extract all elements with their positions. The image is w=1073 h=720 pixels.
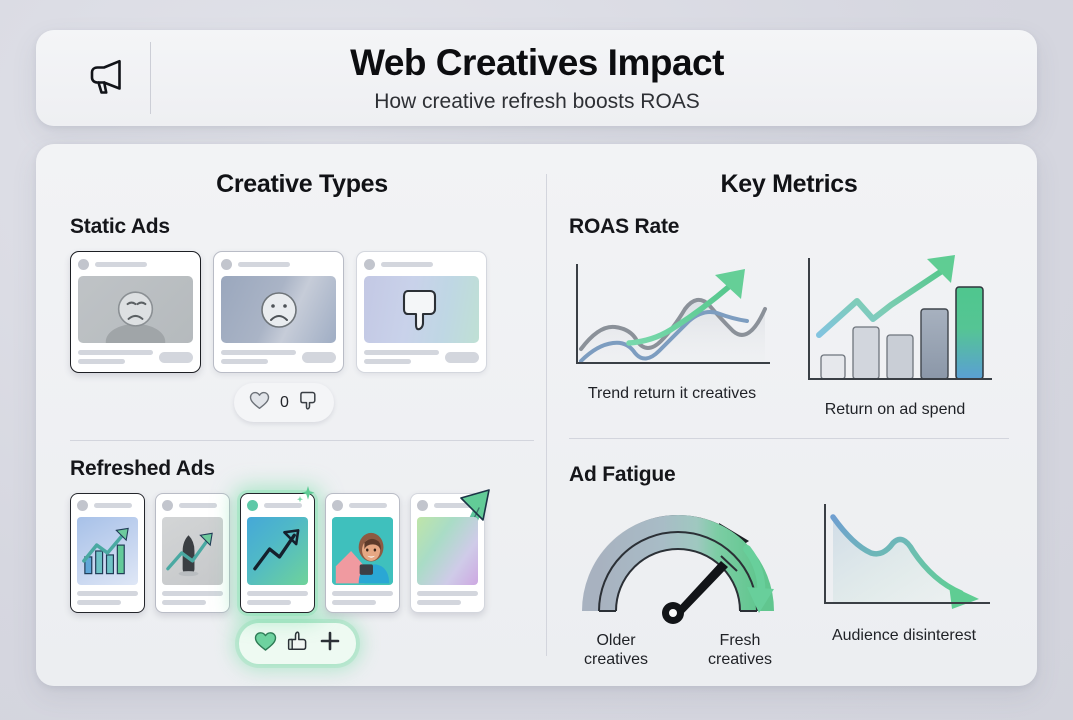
gauge-older-line2: creatives xyxy=(573,650,659,670)
ad-card-footer xyxy=(77,591,138,605)
refreshed-ads-title: Refreshed Ads xyxy=(70,457,534,481)
ad-card-footer xyxy=(162,591,223,605)
ad-line xyxy=(332,591,393,596)
ad-title-placeholder xyxy=(179,503,217,508)
ad-card-header xyxy=(78,259,193,270)
gauge-label-fresh: Fresh creatives xyxy=(697,631,783,670)
key-metrics-column: Key Metrics ROAS Rate xyxy=(547,160,1027,674)
avatar xyxy=(78,259,89,270)
ad-card-header xyxy=(417,500,478,511)
ad-line xyxy=(221,359,268,364)
avatar xyxy=(247,500,258,511)
gauge-fresh-line1: Fresh xyxy=(697,631,783,651)
ad-title-placeholder xyxy=(94,503,132,508)
ad-cta-placeholder[interactable] xyxy=(445,352,479,363)
trend-chart-caption: Trend return it creatives xyxy=(588,384,756,404)
fatigue-charts-row: Older creatives Fresh creatives xyxy=(569,499,1009,670)
header-panel: Web Creatives Impact How creative refres… xyxy=(36,30,1037,126)
ad-line xyxy=(162,591,223,596)
ad-line xyxy=(417,591,478,596)
ad-line xyxy=(332,600,376,605)
ad-card-header xyxy=(77,500,138,511)
ad-line xyxy=(78,350,153,355)
gauge-older-line1: Older xyxy=(573,631,659,651)
ad-line xyxy=(162,600,206,605)
ad-card-footer xyxy=(417,591,478,605)
creative-types-column: Creative Types Static Ads xyxy=(46,160,546,674)
ad-text-placeholders xyxy=(78,350,153,364)
trend-lines-chart: Trend return it creatives xyxy=(569,251,775,420)
static-ad-card[interactable] xyxy=(70,251,201,373)
ad-title-placeholder xyxy=(238,262,290,267)
megaphone-icon xyxy=(64,58,150,98)
ad-line xyxy=(247,591,308,596)
ad-card-header xyxy=(162,500,223,511)
refreshed-reactions-wrap xyxy=(60,623,534,664)
ad-title-placeholder xyxy=(381,262,433,267)
infographic-root: Web Creatives Impact How creative refres… xyxy=(0,0,1073,720)
gauge-label-older: Older creatives xyxy=(573,631,659,670)
avatar xyxy=(162,500,173,511)
avatar xyxy=(364,259,375,270)
sad-face-person-icon xyxy=(78,276,193,343)
page-title: Web Creatives Impact xyxy=(151,42,923,83)
ad-cta-placeholder[interactable] xyxy=(159,352,193,363)
bar-chart-caption: Return on ad spend xyxy=(825,400,966,420)
decline-chart-caption: Audience disinterest xyxy=(832,626,976,646)
ad-cta-placeholder[interactable] xyxy=(302,352,336,363)
gauge-labels: Older creatives Fresh creatives xyxy=(573,631,783,670)
static-ad-card[interactable] xyxy=(213,251,344,373)
avatar xyxy=(417,500,428,511)
refreshed-ad-card-highlighted[interactable] xyxy=(240,493,315,613)
ad-line xyxy=(221,350,296,355)
reaction-count: 0 xyxy=(280,394,289,412)
ad-text-placeholders xyxy=(364,350,439,364)
roas-title: ROAS Rate xyxy=(569,215,1009,239)
page-subtitle: How creative refresh boosts ROAS xyxy=(151,89,923,114)
main-panel: Creative Types Static Ads xyxy=(36,144,1037,686)
ad-card-footer xyxy=(221,350,336,364)
ad-title-placeholder xyxy=(434,503,472,508)
ad-card-header xyxy=(221,259,336,270)
creative-types-title: Creative Types xyxy=(70,170,534,199)
refreshed-ad-card[interactable] xyxy=(325,493,400,613)
avatar xyxy=(77,500,88,511)
sparkle-icon xyxy=(293,483,319,514)
ad-card-footer xyxy=(332,591,393,605)
refreshed-ads-card-row xyxy=(70,493,534,613)
heart-filled-icon[interactable] xyxy=(254,631,277,657)
right-divider xyxy=(569,438,1009,439)
ad-line xyxy=(247,600,291,605)
ad-line xyxy=(77,600,121,605)
static-ads-section: Static Ads xyxy=(70,215,534,422)
ad-card-header xyxy=(332,500,393,511)
ad-card-header xyxy=(364,259,479,270)
thumbs-up-icon[interactable] xyxy=(287,630,309,657)
roas-section: ROAS Rate xyxy=(569,215,1009,420)
fatigue-gauge: Older creatives Fresh creatives xyxy=(569,501,787,670)
refreshed-ads-section: Refreshed Ads xyxy=(70,457,534,664)
static-reactions-wrap: 0 xyxy=(34,383,534,422)
static-ads-card-row xyxy=(70,251,534,373)
static-ad-card[interactable] xyxy=(356,251,487,373)
decline-chart: Audience disinterest xyxy=(809,499,999,646)
ad-line xyxy=(417,600,461,605)
ad-line xyxy=(364,350,439,355)
refreshed-ad-card[interactable] xyxy=(410,493,485,613)
thumbs-down-icon xyxy=(364,276,479,343)
ad-card-footer xyxy=(364,350,479,364)
bar-chart-up-arrow-icon xyxy=(77,517,138,585)
refreshed-ad-card[interactable] xyxy=(155,493,230,613)
product-bottle-up-arrow-icon xyxy=(162,517,223,585)
gauge-fresh-line2: creatives xyxy=(697,650,783,670)
roas-charts-row: Trend return it creatives xyxy=(569,251,1009,420)
header-text-group: Web Creatives Impact How creative refres… xyxy=(151,42,1009,115)
ad-card-footer xyxy=(78,350,193,364)
ad-line xyxy=(77,591,138,596)
avatar xyxy=(332,500,343,511)
frowning-face-icon xyxy=(221,276,336,343)
gradient-media xyxy=(417,517,478,585)
smiling-woman-photo xyxy=(332,517,393,585)
ad-fatigue-section: Ad Fatigue xyxy=(569,463,1009,670)
refreshed-ad-card[interactable] xyxy=(70,493,145,613)
refreshed-reaction-pill[interactable] xyxy=(239,623,356,664)
avatar xyxy=(221,259,232,270)
ad-line xyxy=(78,359,125,364)
thumbs-down-icon[interactable] xyxy=(299,390,319,415)
bar-chart: Return on ad spend xyxy=(795,251,995,420)
static-reaction-pill[interactable]: 0 xyxy=(234,383,334,422)
ad-fatigue-title: Ad Fatigue xyxy=(569,463,1009,487)
heart-outline-icon[interactable] xyxy=(249,391,270,415)
line-chart-up-arrow-icon xyxy=(247,517,308,585)
ad-card-footer xyxy=(247,591,308,605)
ad-text-placeholders xyxy=(221,350,296,364)
key-metrics-title: Key Metrics xyxy=(569,170,1009,199)
left-divider xyxy=(70,440,534,441)
static-ads-title: Static Ads xyxy=(70,215,534,239)
plus-icon[interactable] xyxy=(319,630,341,657)
ad-title-placeholder xyxy=(349,503,387,508)
ad-line xyxy=(364,359,411,364)
ad-title-placeholder xyxy=(95,262,147,267)
